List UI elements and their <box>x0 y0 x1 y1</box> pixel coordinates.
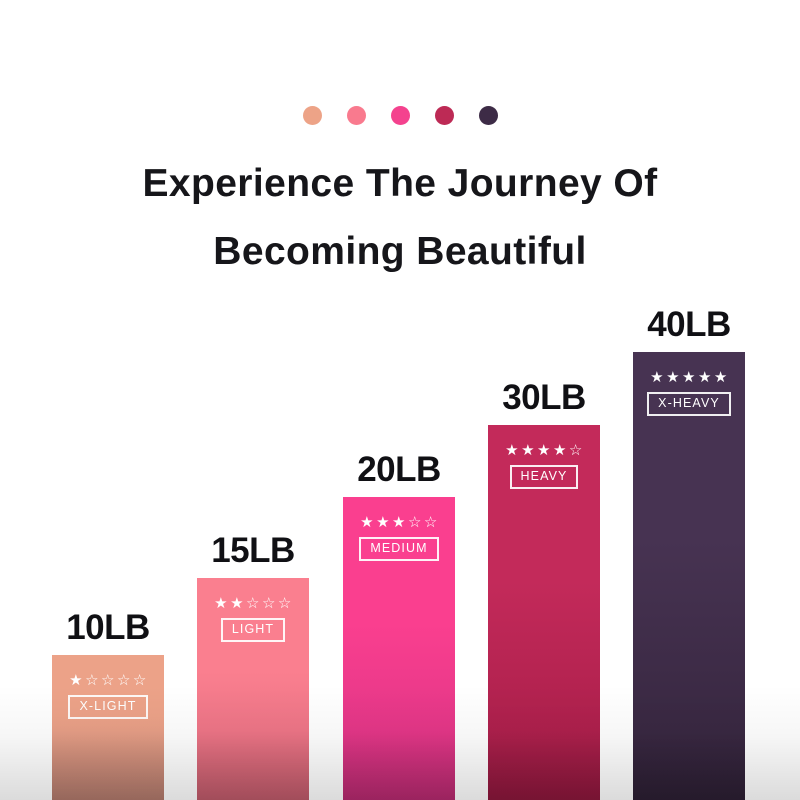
star-filled-icon: ★ <box>230 596 244 611</box>
bar-content-15lb: ★★☆☆☆LIGHT <box>197 596 309 642</box>
bar-30lb: ★★★★☆HEAVY <box>488 425 600 800</box>
star-empty-icon: ☆ <box>246 596 260 611</box>
infographic-canvas: Experience The Journey Of Becoming Beaut… <box>0 0 800 800</box>
star-empty-icon: ☆ <box>101 673 115 688</box>
bar-group-20lb[interactable]: 20LB★★★☆☆MEDIUM <box>343 497 455 800</box>
bar-value-label-20lb: 20LB <box>357 450 441 490</box>
bar-group-40lb[interactable]: 40LB★★★★★X-HEAVY <box>633 352 745 800</box>
bar-value-label-40lb: 40LB <box>647 305 731 345</box>
star-filled-icon: ★ <box>360 515 374 530</box>
star-filled-icon: ★ <box>521 443 535 458</box>
star-filled-icon: ★ <box>505 443 519 458</box>
star-filled-icon: ★ <box>714 370 728 385</box>
star-filled-icon: ★ <box>214 596 228 611</box>
bar-group-10lb[interactable]: 10LB★☆☆☆☆X-LIGHT <box>52 655 164 800</box>
star-filled-icon: ★ <box>650 370 664 385</box>
star-rating-10lb: ★☆☆☆☆ <box>69 673 147 688</box>
star-rating-20lb: ★★★☆☆ <box>360 515 438 530</box>
bar-content-40lb: ★★★★★X-HEAVY <box>633 370 745 416</box>
star-empty-icon: ☆ <box>569 443 583 458</box>
star-empty-icon: ☆ <box>424 515 438 530</box>
star-rating-30lb: ★★★★☆ <box>505 443 583 458</box>
star-filled-icon: ★ <box>537 443 551 458</box>
star-rating-15lb: ★★☆☆☆ <box>214 596 292 611</box>
star-filled-icon: ★ <box>666 370 680 385</box>
star-filled-icon: ★ <box>392 515 406 530</box>
grade-badge-medium: MEDIUM <box>359 537 438 561</box>
star-rating-40lb: ★★★★★ <box>650 370 728 385</box>
star-empty-icon: ☆ <box>117 673 131 688</box>
bar-group-30lb[interactable]: 30LB★★★★☆HEAVY <box>488 425 600 800</box>
resistance-band-bar-chart: 10LB★☆☆☆☆X-LIGHT15LB★★☆☆☆LIGHT20LB★★★☆☆M… <box>0 0 800 800</box>
bar-content-20lb: ★★★☆☆MEDIUM <box>343 515 455 561</box>
bar-20lb: ★★★☆☆MEDIUM <box>343 497 455 800</box>
star-filled-icon: ★ <box>376 515 390 530</box>
star-empty-icon: ☆ <box>278 596 292 611</box>
bar-15lb: ★★☆☆☆LIGHT <box>197 578 309 800</box>
bar-40lb: ★★★★★X-HEAVY <box>633 352 745 800</box>
star-empty-icon: ☆ <box>133 673 147 688</box>
star-filled-icon: ★ <box>698 370 712 385</box>
bar-group-15lb[interactable]: 15LB★★☆☆☆LIGHT <box>197 578 309 800</box>
grade-badge-light: LIGHT <box>221 618 285 642</box>
star-filled-icon: ★ <box>69 673 83 688</box>
bar-10lb: ★☆☆☆☆X-LIGHT <box>52 655 164 800</box>
grade-badge-x-light: X-LIGHT <box>68 695 147 719</box>
bar-value-label-10lb: 10LB <box>66 608 150 648</box>
bar-content-10lb: ★☆☆☆☆X-LIGHT <box>52 673 164 719</box>
bar-value-label-15lb: 15LB <box>211 531 295 571</box>
star-empty-icon: ☆ <box>408 515 422 530</box>
star-filled-icon: ★ <box>553 443 567 458</box>
star-empty-icon: ☆ <box>85 673 99 688</box>
star-empty-icon: ☆ <box>262 596 276 611</box>
star-filled-icon: ★ <box>682 370 696 385</box>
bar-value-label-30lb: 30LB <box>502 378 586 418</box>
grade-badge-x-heavy: X-HEAVY <box>647 392 731 416</box>
grade-badge-heavy: HEAVY <box>510 465 579 489</box>
bar-content-30lb: ★★★★☆HEAVY <box>488 443 600 489</box>
